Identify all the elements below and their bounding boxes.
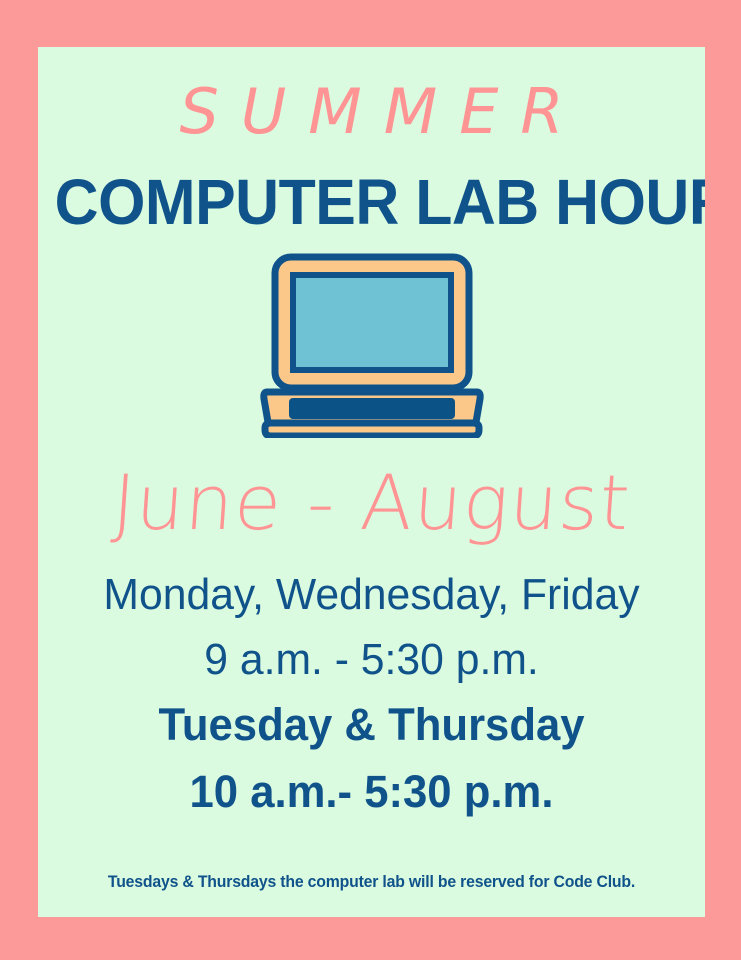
laptop-illustration	[38, 252, 705, 447]
poster-kicker: SUMMER	[38, 81, 705, 143]
schedule-hours-0: 9 a.m. - 5:30 p.m.	[48, 627, 695, 692]
laptop-icon	[259, 252, 485, 438]
footer-note: Tuesdays & Thursdays the computer lab wi…	[61, 872, 681, 892]
poster-canvas: SUMMER COMPUTER LAB HOURS June - August …	[0, 0, 741, 960]
schedule-hours-1: 10 a.m.- 5:30 p.m.	[48, 759, 695, 826]
schedule-block: Monday, Wednesday, Friday 9 a.m. - 5:30 …	[38, 562, 705, 825]
schedule-days-1: Tuesday & Thursday	[48, 692, 695, 759]
page-title: COMPUTER LAB HOURS	[55, 169, 689, 236]
schedule-days-0: Monday, Wednesday, Friday	[48, 562, 695, 627]
poster-inner-panel: SUMMER COMPUTER LAB HOURS June - August …	[38, 47, 705, 917]
date-range: June - August	[38, 465, 705, 541]
